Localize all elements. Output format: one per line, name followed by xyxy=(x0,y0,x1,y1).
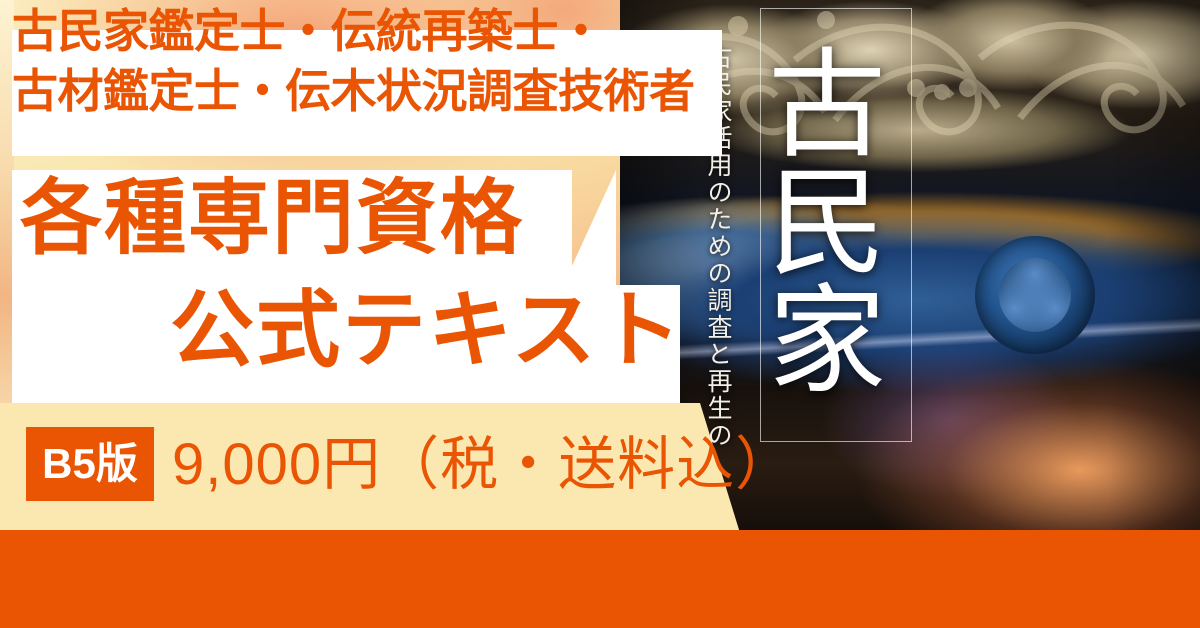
headline-line-2: 古材鑑定士・伝木状況調査技術者 xyxy=(12,62,695,122)
subhead-line-2: 公式テキスト xyxy=(170,288,683,372)
cta-bar[interactable]: 詳細・ご購入はこちら xyxy=(0,530,1200,628)
format-badge: B5版 xyxy=(26,427,154,501)
promo-banner: 古民家 古民家活用のための調査と再生の 伝統構法、 古民家鑑定士・伝統再築士・ … xyxy=(0,0,1200,628)
price-text: 9,000円（税・送料込） xyxy=(172,430,794,500)
headline-line-1: 古民家鑑定士・伝統再築士・ xyxy=(12,2,695,62)
subhead-line-1: 各種専門資格 xyxy=(20,178,524,260)
subhead-panel-notch xyxy=(560,170,616,292)
format-badge-label: B5版 xyxy=(42,443,138,485)
book-title: 古民家 xyxy=(768,10,904,440)
headline-text: 古民家鑑定士・伝統再築士・ 古材鑑定士・伝木状況調査技術者 xyxy=(12,2,695,122)
